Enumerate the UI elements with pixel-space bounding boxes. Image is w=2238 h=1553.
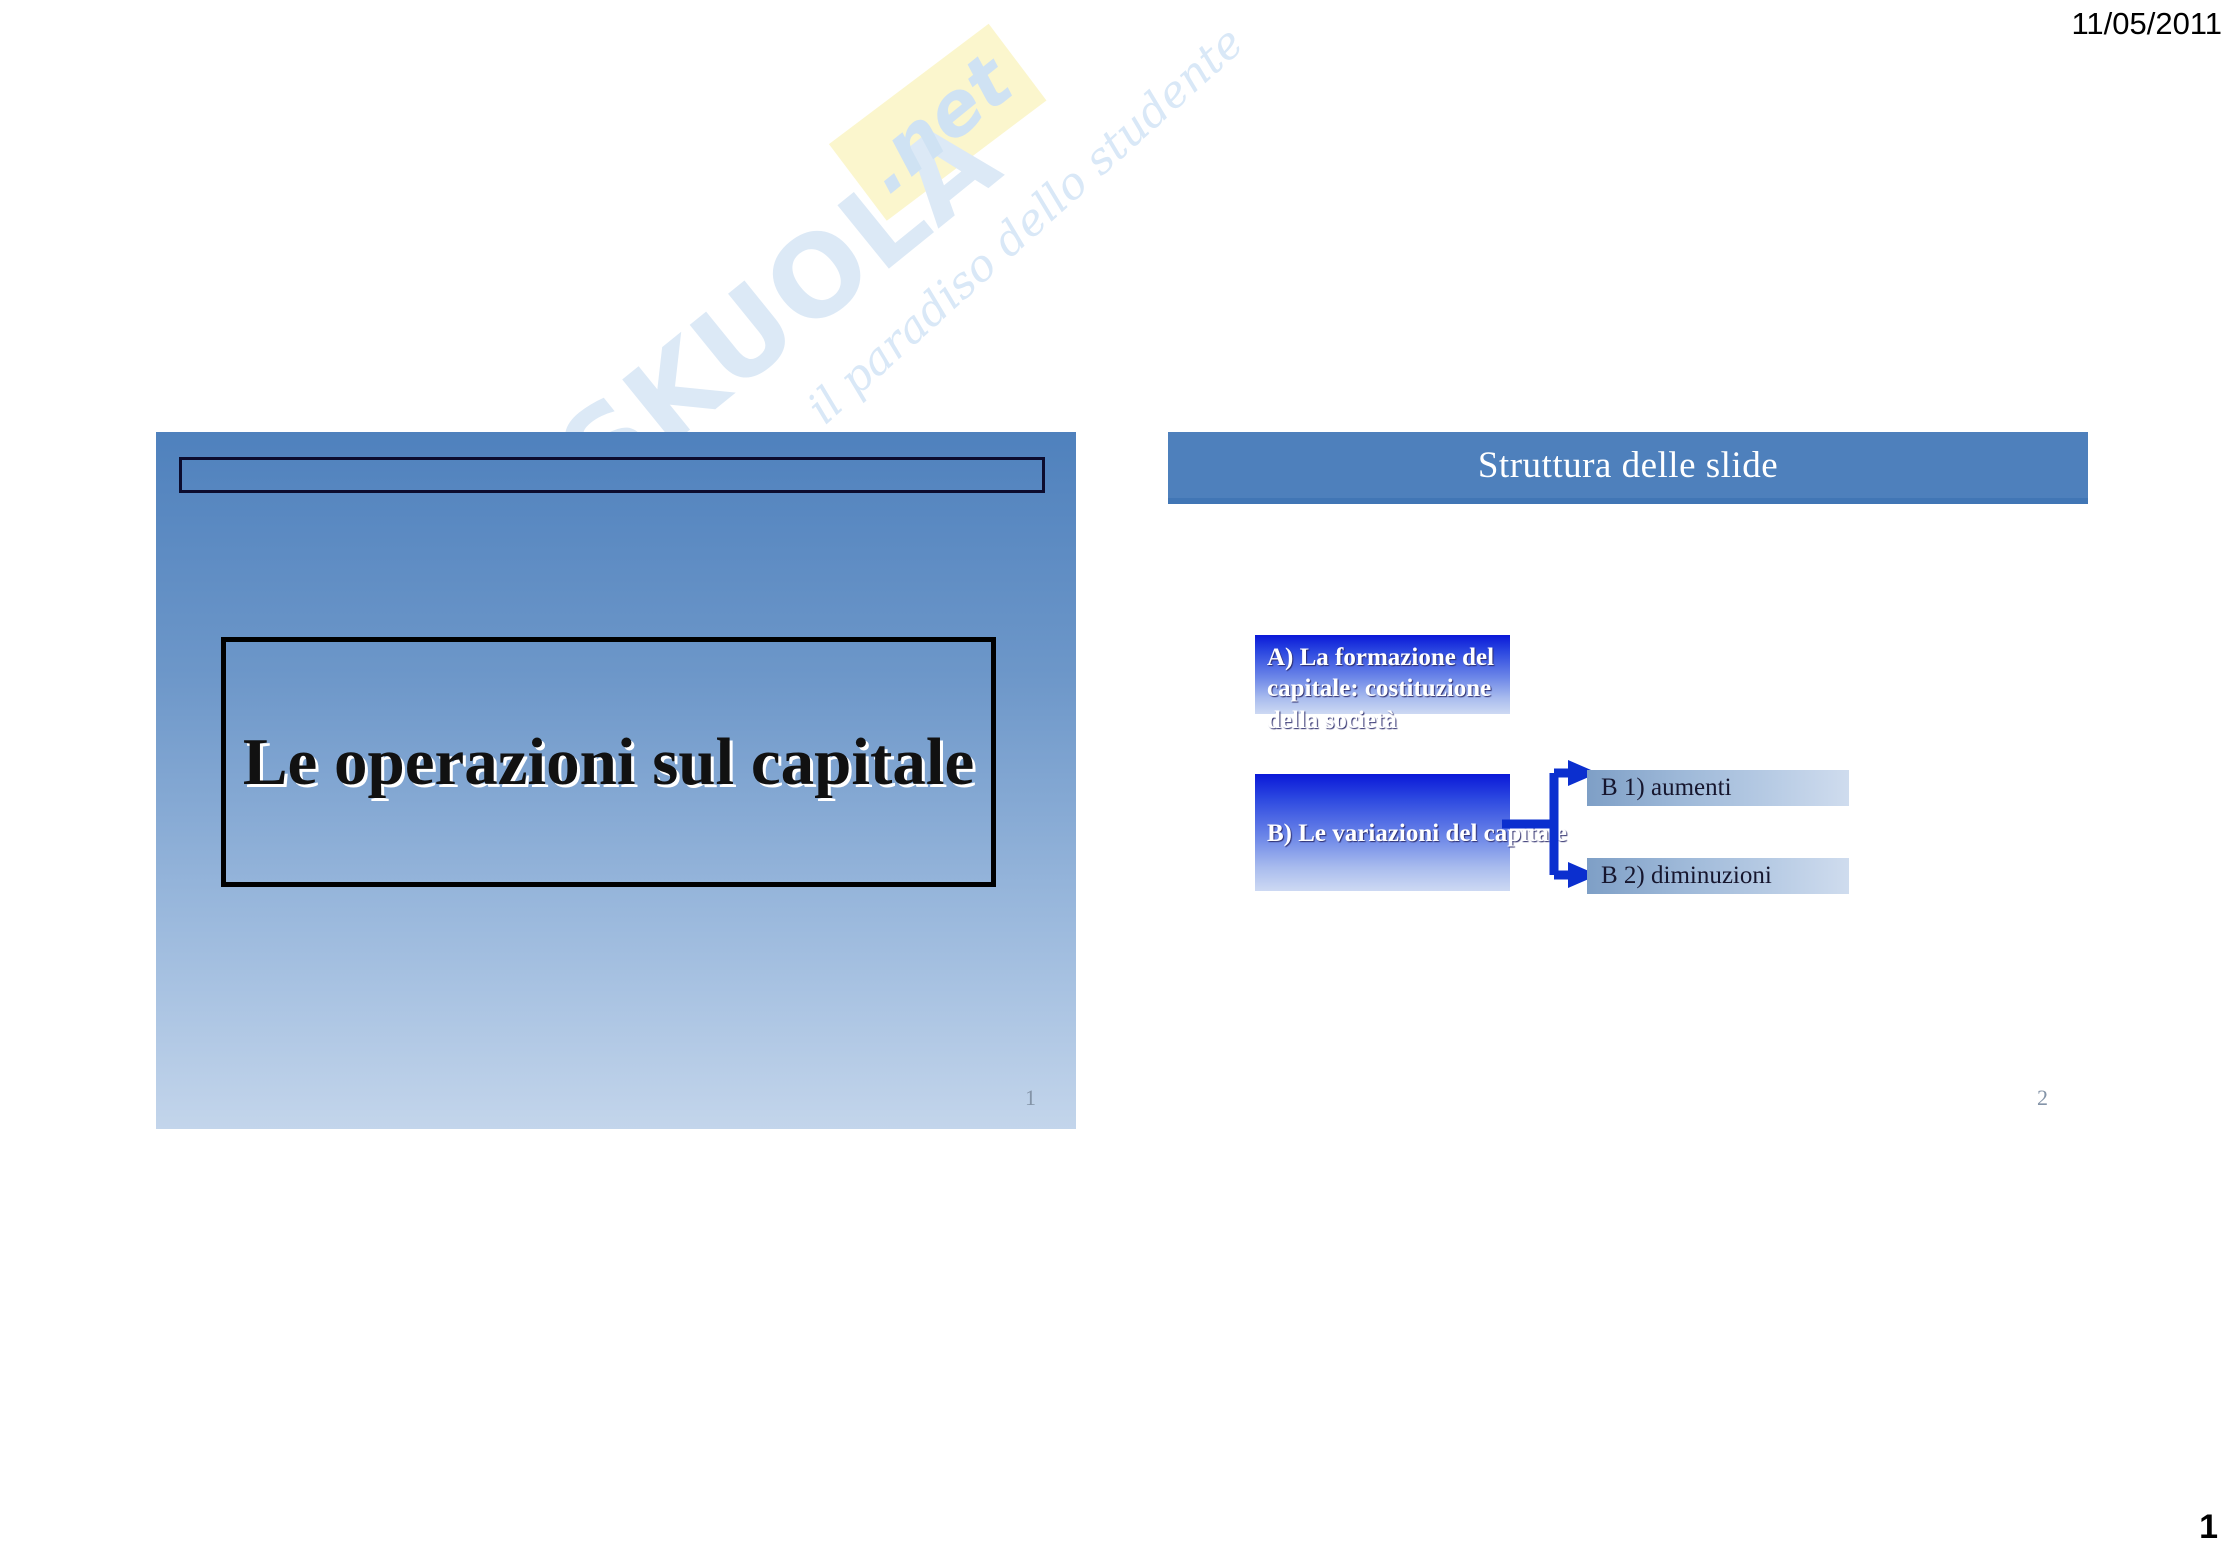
diagram-box-a[interactable]: A) La formazione del capitale: costituzi… (1255, 635, 1510, 714)
page-date: 11/05/2011 (2071, 6, 2222, 42)
page-footer-number: 1 (2199, 1508, 2218, 1547)
diagram-box-b1-label: B 1) aumenti (1601, 774, 1732, 802)
slide-1[interactable]: Le operazioni sul capitale 1 (156, 432, 1076, 1129)
diagram-box-a-label: A) La formazione del capitale: costituzi… (1267, 642, 1505, 736)
slide-2[interactable]: Struttura delle slide A) La formazione d… (1168, 432, 2088, 1129)
diagram-box-b2-label: B 2) diminuzioni (1601, 862, 1772, 890)
diagram-box-b2[interactable]: B 2) diminuzioni (1587, 858, 1849, 894)
slide-2-header-band: Struttura delle slide (1168, 432, 2088, 498)
watermark-tagline-text: il paradiso dello studente (798, 17, 1253, 434)
diagram-box-b1[interactable]: B 1) aumenti (1587, 770, 1849, 806)
watermark-highlight-shape (829, 24, 1047, 221)
slide-1-title-box: Le operazioni sul capitale (221, 637, 996, 887)
watermark-suffix-text: .net (845, 38, 1028, 210)
slide-2-number: 2 (2037, 1085, 2048, 1111)
slide-1-number: 1 (1025, 1085, 1036, 1111)
slide-2-header-underline (1168, 498, 2088, 504)
slide-1-subtitle-placeholder (179, 457, 1045, 493)
skuola-watermark: SKUOLA .net il paradiso dello studente (560, 0, 1120, 490)
diagram-box-b[interactable]: B) Le variazioni del capitale (1255, 774, 1510, 891)
slide-2-header-title: Struttura delle slide (1478, 444, 1778, 487)
slide-1-title: Le operazioni sul capitale (243, 724, 974, 801)
diagram-box-b-label: B) Le variazioni del capitale (1267, 818, 1507, 849)
